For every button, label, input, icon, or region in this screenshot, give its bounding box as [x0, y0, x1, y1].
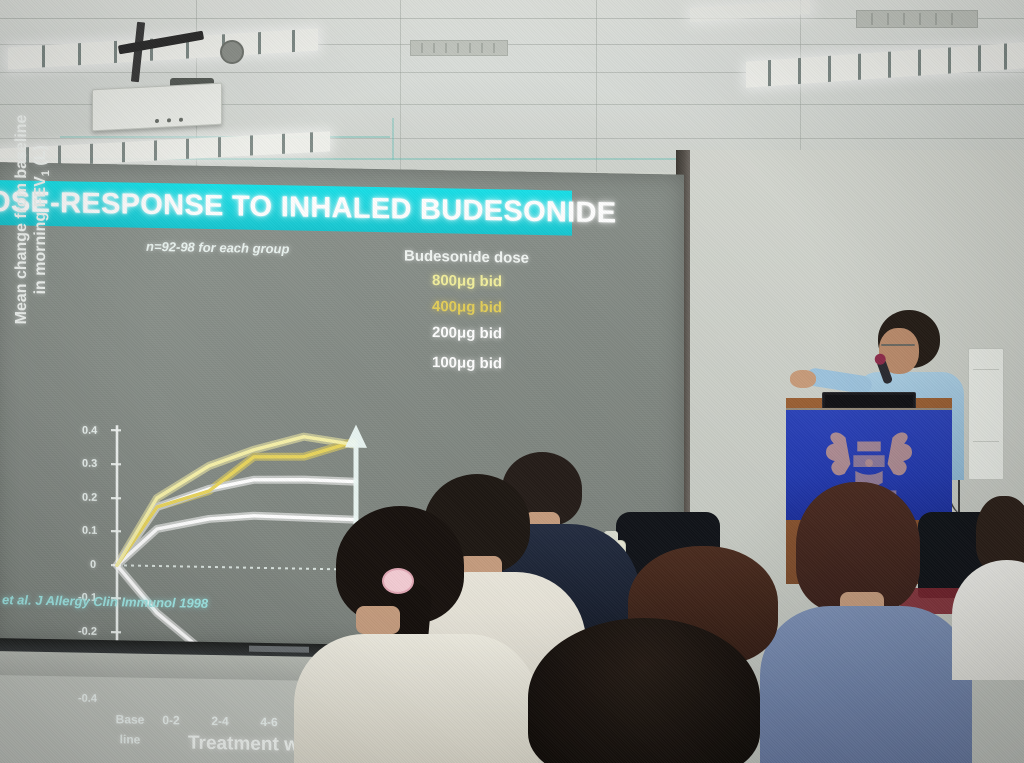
ceiling-projector: [92, 83, 222, 132]
x-tick-baseline-1: Base: [112, 712, 148, 727]
legend-title: Budesonide dose: [404, 248, 529, 267]
shoulders: [760, 606, 972, 763]
slide-title: OSE-RESPONSE TO INHALED BUDESONIDE: [0, 186, 616, 231]
legend-400-dose: 400: [432, 298, 457, 315]
legend-item-800: 800μg bid: [432, 272, 502, 290]
screen-frame-chip: [249, 646, 309, 653]
glasses-icon: [881, 344, 915, 346]
legend-item-100: 100μg bid: [432, 354, 502, 372]
x-tick-2-4: 2-4: [202, 714, 238, 729]
legend-100-dose: 100: [432, 354, 457, 371]
series-200ug: [117, 476, 354, 569]
x-tick-4-6: 4-6: [251, 715, 287, 730]
ceiling-vent: [410, 40, 508, 56]
legend-200-dose: 200: [432, 324, 457, 341]
ceiling-light-right: [746, 42, 1024, 87]
photo-scene: OSE-RESPONSE TO INHALED BUDESONIDE Mean …: [0, 0, 1024, 763]
ceiling-speaker: [220, 40, 244, 64]
neck: [356, 606, 400, 634]
x-tick-baseline-2: line: [112, 732, 148, 747]
x-tick-0-2: 0-2: [153, 713, 189, 728]
y-axis-label-unit: (L): [32, 145, 49, 166]
legend-800-rest: g bid: [466, 273, 502, 291]
legend-800-dose: 800: [432, 272, 457, 289]
legend-item-400: 400μg bid: [432, 298, 502, 316]
ceiling-light-left: [8, 29, 318, 70]
y-axis-label-sub: 1: [40, 170, 52, 176]
ceiling-vent-right: [856, 10, 978, 28]
ceiling: [0, 0, 1024, 172]
presenter-hand: [790, 370, 816, 388]
shoulders: [294, 634, 538, 763]
legend-400-rest: g bid: [466, 299, 502, 317]
legend-item-200: 200μg bid: [432, 324, 502, 342]
hair-scrunchie-icon: [382, 568, 414, 594]
legend-100-rest: g bid: [466, 355, 502, 373]
legend-200-rest: g bid: [466, 325, 502, 343]
